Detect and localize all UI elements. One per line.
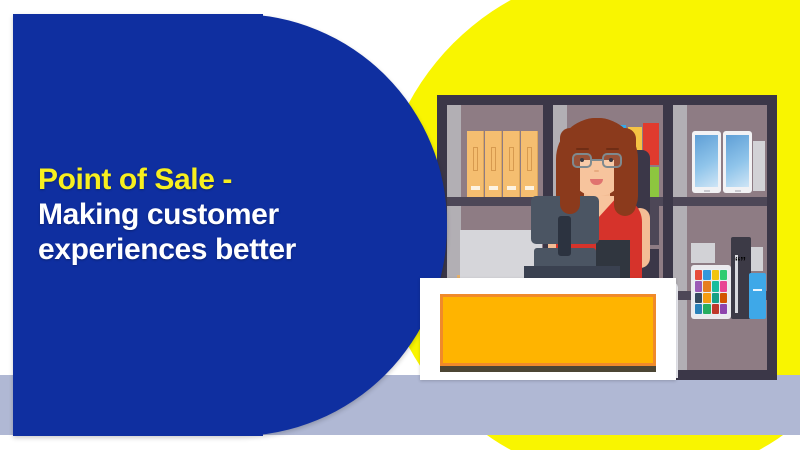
eyeglass-bridge <box>592 159 602 161</box>
tablet-display <box>692 131 721 193</box>
file-box <box>521 131 538 197</box>
file-box <box>485 131 502 197</box>
clerk-eyebrow-left <box>576 148 589 150</box>
file-box <box>503 131 520 197</box>
headline-line-1: Point of Sale - <box>38 163 368 198</box>
tablet-display <box>723 131 752 193</box>
clerk-eye-right <box>609 158 613 162</box>
clerk-hair-side-left <box>560 128 580 214</box>
headline-line-2: Making customer <box>38 198 368 233</box>
counter-base-trim <box>440 366 656 372</box>
shelf-filler-box <box>753 141 765 191</box>
clerk-hair-side-right <box>614 128 636 216</box>
shelf-board <box>673 197 767 206</box>
tablet-with-apps <box>691 265 731 319</box>
shelf-filler-box <box>691 243 715 263</box>
headline-line-3: experiences better <box>38 233 368 268</box>
shelf-filler-box <box>751 247 763 271</box>
file-box <box>467 131 484 197</box>
blue-device <box>749 273 766 319</box>
banner: Point of Sale - Making customer experien… <box>0 0 800 450</box>
clerk-nose <box>594 170 599 172</box>
computer-tower <box>731 237 751 319</box>
counter-front-panel <box>440 294 656 366</box>
clerk-eyebrow-right <box>606 148 619 150</box>
tablet-app-grid <box>694 269 728 315</box>
shelf-bay-right <box>673 105 767 370</box>
pos-terminal-stand <box>558 216 571 256</box>
clerk-eye-left <box>580 158 584 162</box>
shelf-board <box>447 197 543 206</box>
page-title: Point of Sale - Making customer experien… <box>38 163 368 267</box>
